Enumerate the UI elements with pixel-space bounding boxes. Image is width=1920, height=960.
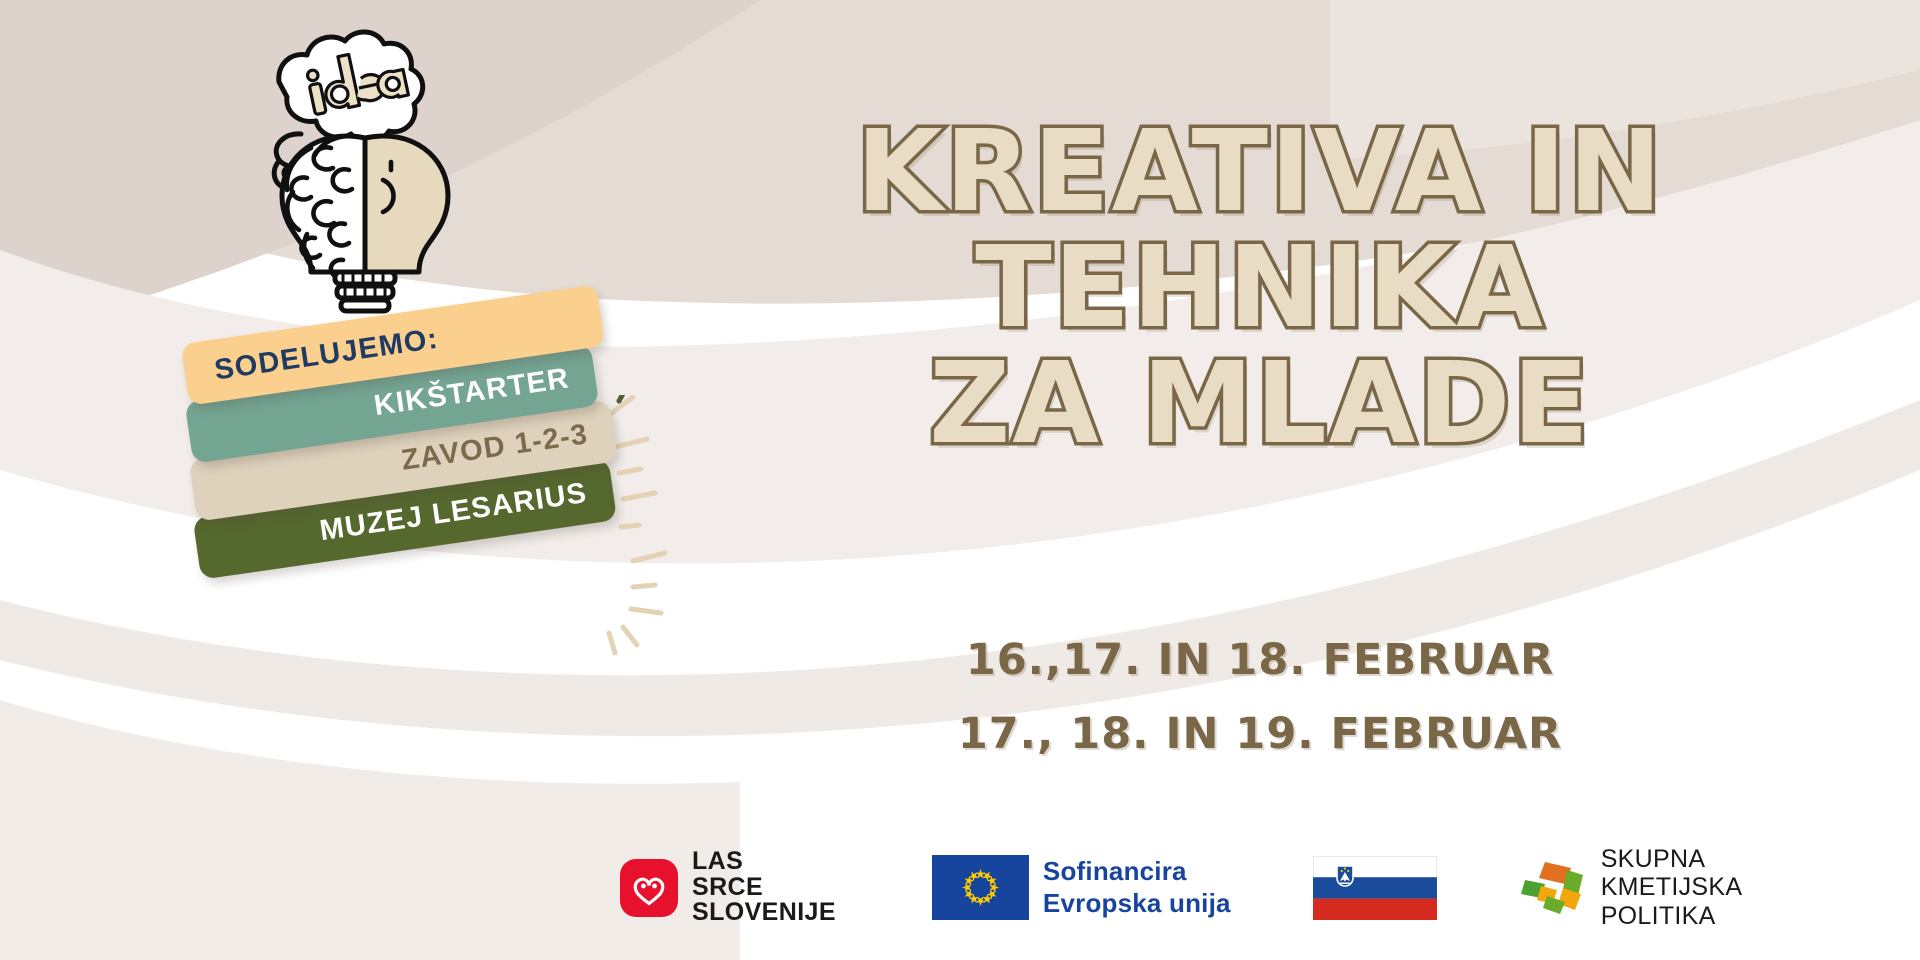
las-heart-icon [620,859,678,917]
title-line-3: ZA MLADE [760,350,1760,460]
title-line-1: KREATIVA IN [760,118,1760,228]
title-line-2: TEHNIKA [760,234,1760,344]
las-line-2: SRCE [692,875,836,901]
skp-text-block: SKUPNA KMETIJSKA POLITIKA [1601,845,1743,931]
slovenia-flag-icon [1313,856,1437,920]
las-line-3: SLOVENIJE [692,900,836,926]
las-line-1: LAS [692,849,836,875]
logo-skupna-kmetijska-politika: SKUPNA KMETIJSKA POLITIKA [1515,845,1743,931]
date-line-2: 17., 18. IN 19. FEBRUAR [760,709,1760,759]
poster-canvas: SODELUJEMO: KIKŠTARTER ZAVOD 1-2-3 MUZEJ… [0,0,1920,960]
page-title: KREATIVA IN TEHNIKA ZA MLADE [760,118,1760,465]
skp-line-3: POLITIKA [1601,902,1743,931]
skp-line-1: SKUPNA [1601,845,1743,874]
las-text-block: LAS SRCE SLOVENIJE [692,849,836,926]
logo-las-srce-slovenije: LAS SRCE SLOVENIJE [620,849,836,926]
skp-fields-icon [1515,858,1587,918]
eu-text-block: Sofinancira Evropska unija [1043,856,1231,918]
eu-line-2: Evropska unija [1043,888,1231,919]
slovenia-coat-of-arms-icon [1337,866,1353,886]
logo-slovenia-flag [1313,856,1437,920]
eu-line-1: Sofinancira [1043,856,1231,887]
event-dates: 16.,17. IN 18. FEBRUAR 17., 18. IN 19. F… [760,635,1760,783]
footer-logos: LAS SRCE SLOVENIJE [620,835,1860,940]
eu-flag-icon [932,855,1029,920]
date-line-1: 16.,17. IN 18. FEBRUAR [760,635,1760,685]
brain-lightbulb-icon [282,136,448,311]
idea-lightbulb-illustration [215,20,515,320]
logo-european-union: Sofinancira Evropska unija [932,855,1231,920]
skp-line-2: KMETIJSKA [1601,873,1743,902]
partner-ribbons: SODELUJEMO: KIKŠTARTER ZAVOD 1-2-3 MUZEJ… [175,330,815,660]
